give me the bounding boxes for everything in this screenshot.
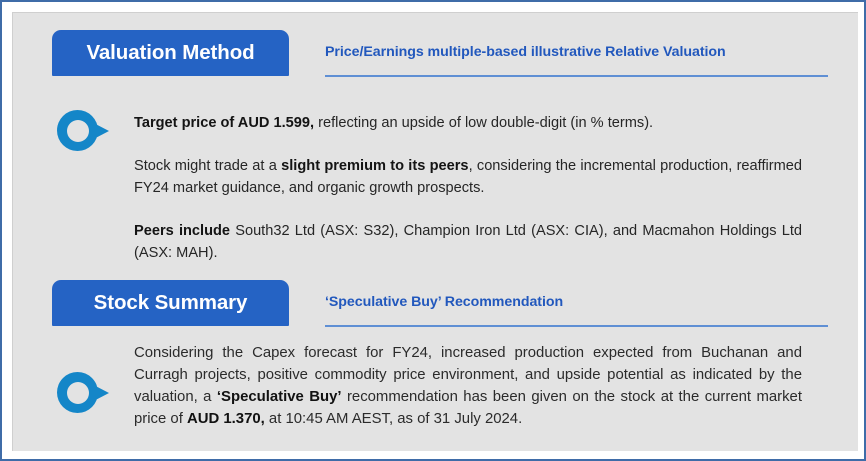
- report-card: Valuation Method Price/Earnings multiple…: [12, 12, 858, 451]
- stock-summary-header: Stock Summary ‘Speculative Buy’ Recommen…: [12, 280, 858, 332]
- stock-summary-body: Considering the Capex forecast for FY24,…: [134, 342, 802, 430]
- paragraph-target-price: Target price of AUD 1.599, reflecting an…: [134, 112, 802, 135]
- run-bold: ‘Speculative Buy’: [217, 389, 342, 405]
- pin-hole: [67, 382, 89, 404]
- valuation-method-header: Valuation Method Price/Earnings multiple…: [12, 30, 858, 82]
- valuation-method-body: Target price of AUD 1.599, reflecting an…: [134, 112, 802, 265]
- location-pin-icon: [57, 372, 109, 413]
- run-bold: Target price of AUD 1.599,: [134, 115, 314, 131]
- valuation-method-caption: Price/Earnings multiple-based illustrati…: [325, 44, 726, 60]
- paragraph-recommendation: Considering the Capex forecast for FY24,…: [134, 342, 802, 430]
- valuation-method-badge-label: Valuation Method: [86, 41, 254, 65]
- valuation-method-rule: [325, 75, 828, 77]
- run-bold: AUD 1.370,: [187, 411, 265, 427]
- paragraph-premium-peers: Stock might trade at a slight premium to…: [134, 155, 802, 200]
- location-pin-icon: [57, 110, 109, 151]
- valuation-method-badge[interactable]: Valuation Method: [52, 30, 289, 76]
- stock-summary-caption: ‘Speculative Buy’ Recommendation: [325, 294, 563, 310]
- stock-summary-badge[interactable]: Stock Summary: [52, 280, 289, 326]
- stock-summary-badge-label: Stock Summary: [94, 291, 248, 315]
- run-bold: slight premium to its peers: [281, 158, 468, 174]
- run-plain: at 10:45 AM AEST, as of 31 July 2024.: [265, 411, 522, 427]
- paragraph-peers-include: Peers include South32 Ltd (ASX: S32), Ch…: [134, 220, 802, 265]
- run-bold: Peers include: [134, 223, 230, 239]
- stock-summary-rule: [325, 325, 828, 327]
- run-plain: South32 Ltd (ASX: S32), Champion Iron Lt…: [134, 223, 802, 262]
- pin-hole: [67, 120, 89, 142]
- outer-frame: Valuation Method Price/Earnings multiple…: [0, 0, 866, 461]
- run-plain: reflecting an upside of low double-digit…: [314, 115, 653, 131]
- run-plain: Stock might trade at a: [134, 158, 281, 174]
